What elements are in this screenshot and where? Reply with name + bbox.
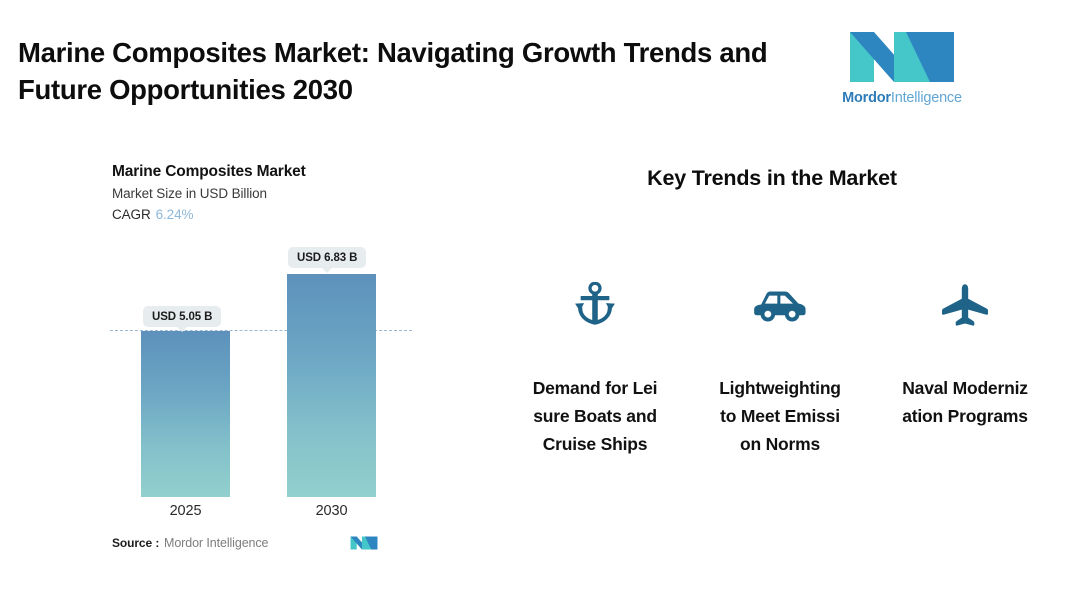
trend-card-1: Demand for Leisure Boats and Cruise Ship… bbox=[515, 280, 675, 458]
trend-label-3: Naval Modernization Programs bbox=[901, 374, 1029, 430]
mordor-m-logo-icon bbox=[848, 28, 956, 86]
anchor-icon bbox=[568, 280, 622, 330]
bar-2025 bbox=[141, 331, 230, 497]
brand-logo: MordorIntelligence bbox=[838, 28, 966, 113]
brand-wordmark: MordorIntelligence bbox=[838, 90, 966, 107]
page-title: Marine Composites Market: Navigating Gro… bbox=[18, 34, 788, 108]
trends-panel: Key Trends in the Market bbox=[470, 150, 1074, 570]
bar-value-label-2030: USD 6.83 B bbox=[288, 247, 366, 268]
x-axis-tick-2025: 2025 bbox=[141, 503, 230, 519]
source-label: Source : bbox=[112, 536, 159, 550]
brand-name-light: Intelligence bbox=[891, 90, 962, 106]
bar-chart-plot: USD 5.05 B USD 6.83 B 2025 2030 bbox=[0, 150, 470, 570]
trend-card-2: Lightweighting to Meet Emission Norms bbox=[700, 280, 860, 458]
source-value: Mordor Intelligence bbox=[164, 536, 268, 550]
infographic-page: Marine Composites Market: Navigating Gro… bbox=[0, 0, 1074, 589]
trend-card-3: Naval Modernization Programs bbox=[885, 280, 1045, 458]
mordor-m-logo-icon bbox=[350, 534, 378, 552]
airplane-icon bbox=[938, 280, 992, 330]
bar-value-label-2025: USD 5.05 B bbox=[143, 306, 221, 327]
source-row: Source : Mordor Intelligence bbox=[112, 534, 392, 556]
trend-label-1: Demand for Leisure Boats and Cruise Ship… bbox=[531, 374, 659, 458]
trends-title: Key Trends in the Market bbox=[470, 166, 1074, 191]
x-axis-tick-2030: 2030 bbox=[287, 503, 376, 519]
brand-name-bold: Mordor bbox=[842, 90, 891, 106]
trend-grid: Demand for Leisure Boats and Cruise Ship… bbox=[515, 280, 1045, 458]
bar-2030 bbox=[287, 274, 376, 497]
trend-label-2: Lightweighting to Meet Emission Norms bbox=[716, 374, 844, 458]
chart-panel: Marine Composites Market Market Size in … bbox=[0, 150, 470, 570]
car-icon bbox=[753, 280, 807, 330]
